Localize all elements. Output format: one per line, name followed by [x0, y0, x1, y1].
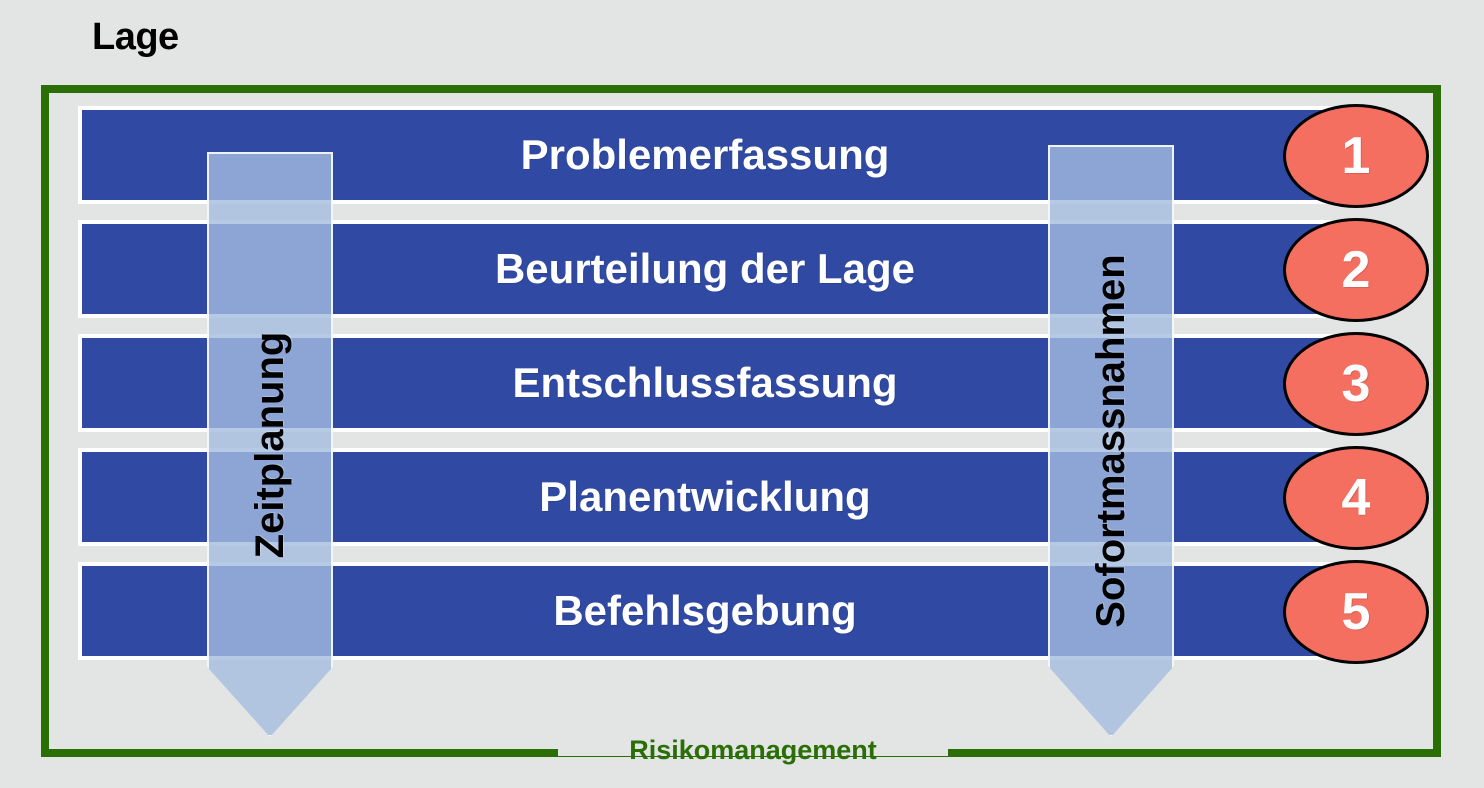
step-number-4: 4 — [1342, 472, 1371, 524]
arrow-label-sofortmassnahmen: Sofortmassnahmen — [1088, 254, 1134, 627]
step-number-badge-1[interactable]: 1 — [1283, 104, 1429, 208]
step-label-5: Befehlsgebung — [553, 587, 856, 635]
step-number-3: 3 — [1342, 358, 1371, 410]
arrow-label-zeitplanung: Zeitplanung — [247, 331, 293, 558]
step-number-1: 1 — [1342, 130, 1371, 182]
step-label-2: Beurteilung der Lage — [495, 245, 915, 293]
step-number-badge-4[interactable]: 4 — [1283, 446, 1429, 550]
step-label-4: Planentwicklung — [539, 473, 870, 521]
step-number-badge-5[interactable]: 5 — [1283, 560, 1429, 664]
page-title: Lage — [92, 14, 179, 60]
frame-label: Risikomanagement — [558, 734, 948, 766]
step-number-badge-3[interactable]: 3 — [1283, 332, 1429, 436]
step-number-2: 2 — [1342, 244, 1371, 296]
arrow-zeitplanung[interactable]: Zeitplanung — [207, 152, 333, 737]
arrow-sofortmassnahmen[interactable]: Sofortmassnahmen — [1048, 145, 1174, 737]
step-label-3: Entschlussfassung — [512, 359, 897, 407]
step-number-5: 5 — [1342, 586, 1371, 638]
diagram-canvas: Lage Problemerfassung Beurteilung der La… — [0, 0, 1484, 788]
step-number-badge-2[interactable]: 2 — [1283, 218, 1429, 322]
step-label-1: Problemerfassung — [521, 131, 890, 179]
